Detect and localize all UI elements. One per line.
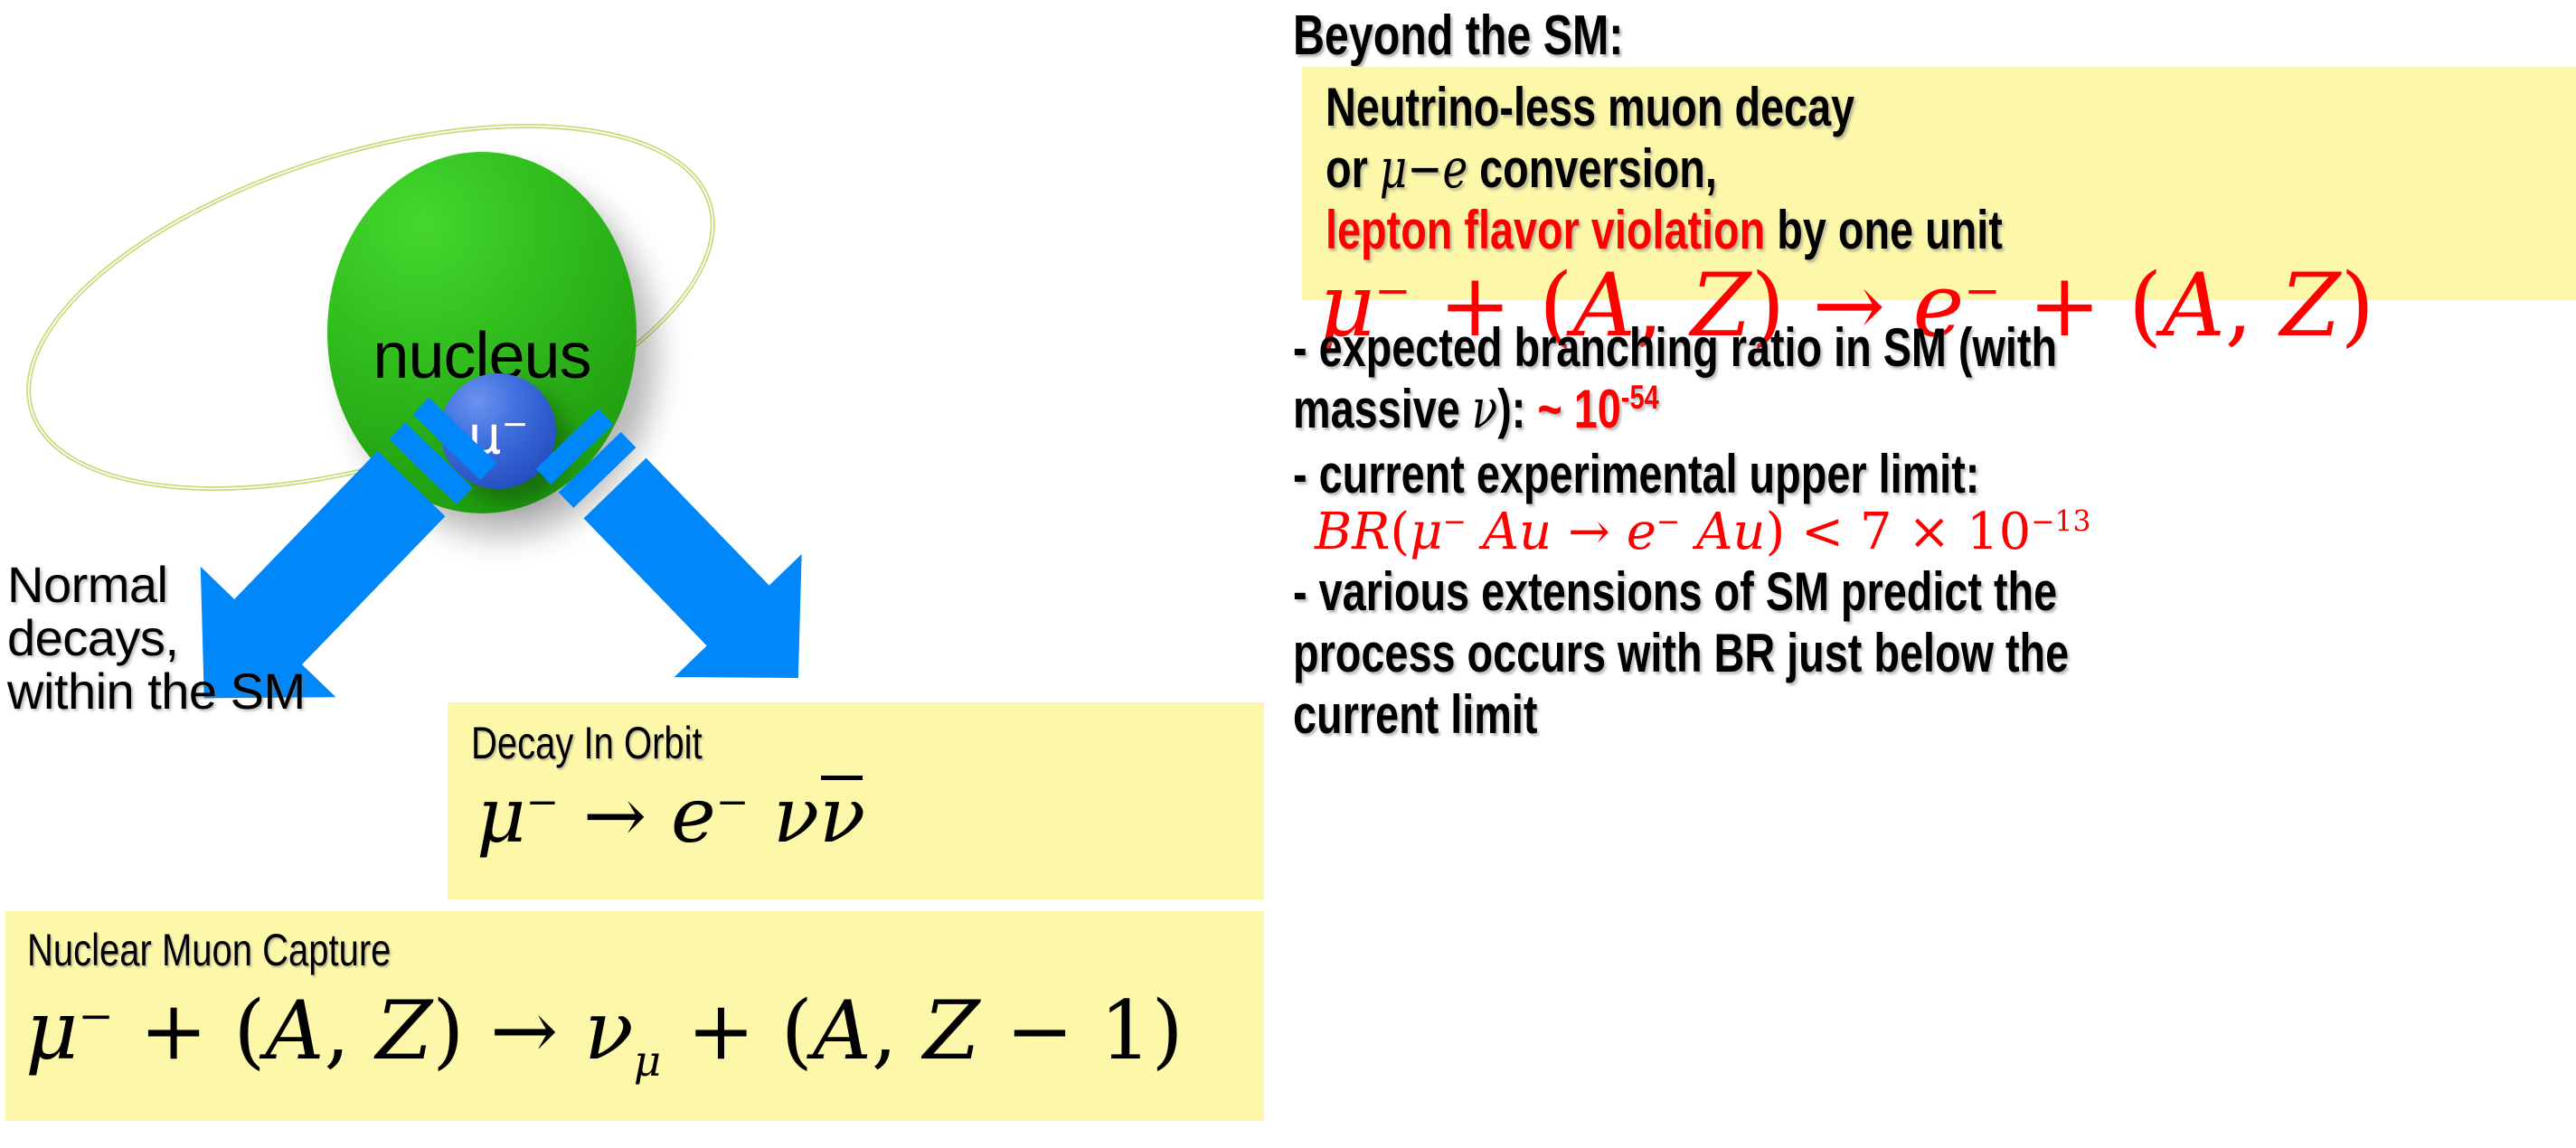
bullet-current-limit-tail: current limit — [1293, 683, 1537, 746]
nuclear-muon-capture-equation: μ− + (A, Z) → νμ + (A, Z − 1) — [25, 983, 1184, 1087]
lepton-flavor-violation-text: lepton flavor violation — [1326, 200, 1765, 260]
muon-atom-diagram: nucleus μ− Normal decays, within the SM … — [0, 0, 1284, 1148]
beyond-sm-heading: Beyond the SM: — [1293, 4, 1623, 68]
bullet-process-occurs: process occurs with BR just below the — [1293, 622, 2069, 684]
beyond-sm-box: Neutrino-less muon decay or μ−e conversi… — [1302, 67, 2576, 300]
nuclear-muon-capture-title: Nuclear Muon Capture — [27, 924, 391, 976]
decay-in-orbit-box: Decay In Orbit μ− → e− νν — [448, 702, 1264, 899]
bsm-line-2: or μ−e conversion, — [1326, 137, 1717, 201]
bullet-massive-nu: massive ν): ~ 10-54 — [1293, 378, 1659, 441]
beyond-sm-panel: Beyond the SM: Neutrino-less muon decay … — [1293, 0, 2576, 1148]
decay-arrow-right — [504, 377, 863, 739]
normal-decays-caption: Normal decays, within the SM — [7, 559, 306, 718]
nuclear-muon-capture-box: Nuclear Muon Capture μ− + (A, Z) → νμ + … — [5, 911, 1264, 1121]
bullet-expected-br: - expected branching ratio in SM (with — [1293, 316, 2057, 379]
decay-in-orbit-equation: μ− → e− νν — [477, 771, 865, 860]
decay-in-orbit-title: Decay In Orbit — [471, 717, 703, 769]
bsm-line-3: lepton flavor violation by one unit — [1326, 199, 2003, 261]
bsm-line-1: Neutrino-less muon decay — [1326, 76, 1854, 138]
bullet-various-extensions: - various extensions of SM predict the — [1293, 560, 2057, 623]
bullet-current-limit: - current experimental upper limit: — [1293, 443, 1979, 505]
br-upper-limit-equation: BR(μ− Au → e− Au) < 7 × 10−13 — [1315, 503, 2090, 561]
